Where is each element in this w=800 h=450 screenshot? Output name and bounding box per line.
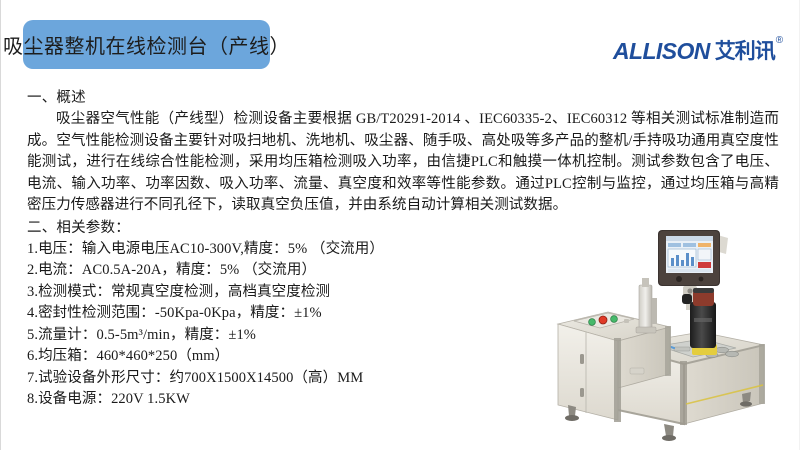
hmi-screen-field <box>698 243 711 247</box>
hmi-screen-alarm <box>698 262 711 268</box>
cabinet-door-handle[interactable] <box>580 354 584 364</box>
vacuum-unit-body <box>690 302 716 348</box>
vacuum-unit-cap <box>693 288 714 293</box>
orifice-hole[interactable] <box>726 351 739 357</box>
cabinet-left-panel <box>558 324 618 420</box>
logo-text-en: ALLISON <box>613 38 710 64</box>
lift-column-base <box>636 327 656 333</box>
lift-column-guide <box>652 298 657 324</box>
hmi-button[interactable] <box>699 277 704 282</box>
cabinet-foot-pad <box>565 415 579 421</box>
hmi-screen-readout <box>698 249 711 260</box>
company-logo: ALLISON 艾利讯 ® <box>613 38 783 64</box>
overview-paragraph: 吸尘器空气性能（产线型）检测设备主要根据 GB/T20291-2014 、IEC… <box>27 109 779 217</box>
indicator-lamp-green[interactable] <box>589 319 596 326</box>
cabinet-corner-post <box>665 326 671 376</box>
lift-column-rod <box>642 278 649 287</box>
panel-switch[interactable] <box>624 319 629 323</box>
page-header: 吸尘器整机在线检测台（产线） ALLISON 艾利讯 ® <box>1 0 800 86</box>
cabinet-corner-post <box>614 338 621 422</box>
hmi-screen-field <box>683 243 696 247</box>
indicator-lamp-red[interactable] <box>599 316 607 324</box>
hmi-button[interactable] <box>676 276 682 282</box>
vacuum-unit-band <box>694 318 712 322</box>
nameplate <box>630 368 644 374</box>
plate-label <box>674 347 690 351</box>
hmi-screen-titlebar <box>666 236 713 241</box>
registered-trademark-icon: ® <box>776 36 783 46</box>
bench-corner-post <box>759 344 765 404</box>
page-title: 吸尘器整机在线检测台（产线） <box>3 30 290 59</box>
cabinet-door-handle[interactable] <box>580 388 584 397</box>
overview-heading: 一、概述 <box>27 88 779 109</box>
bench-foot <box>664 424 674 436</box>
title-banner: 吸尘器整机在线检测台（产线） <box>23 20 270 69</box>
logo-text-cn: 艾利讯 <box>715 38 775 65</box>
machine-photo <box>546 228 800 450</box>
hmi-pivot <box>687 288 692 293</box>
bench-corner-post <box>680 361 687 425</box>
bench-foot-pad <box>662 435 676 441</box>
hmi-screen-statusbar <box>668 269 711 272</box>
indicator-lamp-green[interactable] <box>611 316 618 323</box>
hmi-screen-field <box>668 243 681 247</box>
bench-foot-pad <box>740 401 752 406</box>
lift-column-body <box>639 285 652 331</box>
slide-page: 吸尘器整机在线检测台（产线） ALLISON 艾利讯 ® 一、概述 吸尘器空气性… <box>0 0 800 450</box>
vacuum-unit-nozzle <box>682 294 692 304</box>
